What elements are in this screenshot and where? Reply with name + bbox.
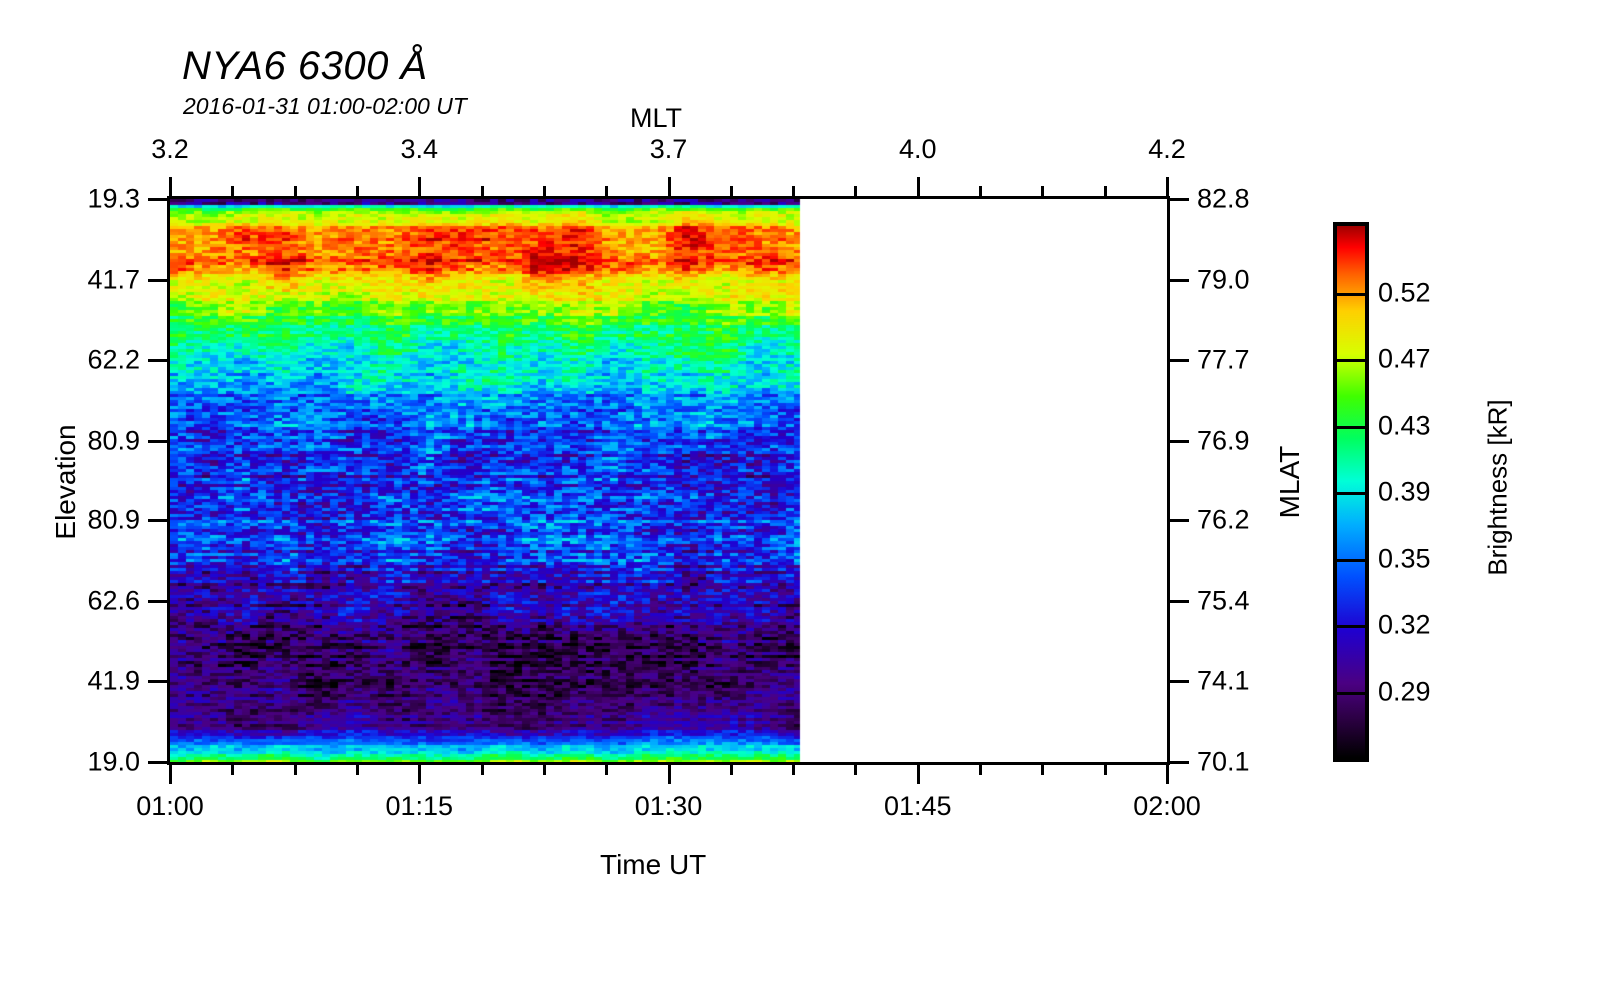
mlat-tick-label-0: 82.8 <box>1197 184 1250 215</box>
elevation-tick-label-1: 41.7 <box>87 264 140 295</box>
x-minor-tick-top <box>294 186 297 199</box>
colorbar-tick-label-0.39: 0.39 <box>1378 477 1431 508</box>
figure-subtitle: 2016-01-31 01:00-02:00 UT <box>183 93 467 120</box>
colorbar-tick-label-0.29: 0.29 <box>1378 677 1431 708</box>
x-minor-tick-bottom <box>543 762 546 775</box>
elevation-tick-label-2: 62.2 <box>87 345 140 376</box>
y-major-tick-left-2 <box>148 359 170 362</box>
y-major-tick-right-1 <box>1167 279 1189 282</box>
x-major-tick-top-3 <box>917 177 920 199</box>
colorbar-separator-5 <box>1337 625 1365 628</box>
y-major-tick-left-5 <box>148 600 170 603</box>
brightness-colorbar <box>1333 222 1369 762</box>
x-minor-tick-top <box>231 186 234 199</box>
y-major-tick-right-5 <box>1167 600 1189 603</box>
x-minor-tick-top <box>543 186 546 199</box>
x-minor-tick-bottom <box>1104 762 1107 775</box>
x-major-tick-bottom-3 <box>917 762 920 784</box>
mlt-tick-label-3.2: 3.2 <box>151 134 189 165</box>
elevation-tick-label-4: 80.9 <box>87 505 140 536</box>
x-minor-tick-bottom <box>231 762 234 775</box>
figure-root: NYA6 6300 Å 2016-01-31 01:00-02:00 UT ML… <box>0 0 1600 1000</box>
x-minor-tick-bottom <box>730 762 733 775</box>
y-major-tick-left-6 <box>148 680 170 683</box>
x-major-tick-top-0 <box>169 177 172 199</box>
mlt-tick-label-4.0: 4.0 <box>899 134 937 165</box>
x-minor-tick-top <box>792 186 795 199</box>
y-major-tick-left-4 <box>148 519 170 522</box>
keogram-image <box>170 199 1167 762</box>
mlt-axis-title: MLT <box>630 103 682 134</box>
x-minor-tick-top <box>1041 186 1044 199</box>
x-major-tick-top-2 <box>668 177 671 199</box>
mlat-axis-title: MLAT <box>1274 382 1306 582</box>
x-minor-tick-top <box>481 186 484 199</box>
x-major-tick-top-1 <box>418 177 421 199</box>
x-minor-tick-bottom <box>294 762 297 775</box>
mlat-tick-label-4: 76.2 <box>1197 505 1250 536</box>
y-major-tick-left-7 <box>148 761 170 764</box>
colorbar-tick-label-0.35: 0.35 <box>1378 544 1431 575</box>
x-tick-label-01:15: 01:15 <box>385 791 453 822</box>
colorbar-separator-1 <box>1337 359 1365 362</box>
elevation-tick-label-6: 41.9 <box>87 666 140 697</box>
mlat-tick-label-6: 74.1 <box>1197 666 1250 697</box>
colorbar-separator-4 <box>1337 559 1365 562</box>
x-minor-tick-top <box>356 186 359 199</box>
time-axis-title: Time UT <box>600 849 706 881</box>
colorbar-tick-label-0.43: 0.43 <box>1378 411 1431 442</box>
x-tick-label-01:00: 01:00 <box>136 791 204 822</box>
x-major-tick-bottom-4 <box>1166 762 1169 784</box>
x-major-tick-bottom-2 <box>668 762 671 784</box>
x-minor-tick-bottom <box>481 762 484 775</box>
colorbar-separator-0 <box>1337 293 1365 296</box>
y-major-tick-right-7 <box>1167 761 1189 764</box>
elevation-tick-label-3: 80.9 <box>87 425 140 456</box>
mlt-tick-label-3.7: 3.7 <box>650 134 688 165</box>
x-minor-tick-bottom <box>979 762 982 775</box>
colorbar-tick-label-0.52: 0.52 <box>1378 278 1431 309</box>
elevation-tick-label-7: 19.0 <box>87 747 140 778</box>
colorbar-separator-2 <box>1337 426 1365 429</box>
y-major-tick-right-0 <box>1167 198 1189 201</box>
y-major-tick-right-4 <box>1167 519 1189 522</box>
y-major-tick-left-1 <box>148 279 170 282</box>
x-major-tick-bottom-1 <box>418 762 421 784</box>
x-minor-tick-bottom <box>356 762 359 775</box>
x-minor-tick-top <box>854 186 857 199</box>
x-minor-tick-top <box>979 186 982 199</box>
mlat-tick-label-5: 75.4 <box>1197 585 1250 616</box>
elevation-tick-label-5: 62.6 <box>87 585 140 616</box>
x-major-tick-top-4 <box>1166 177 1169 199</box>
mlat-tick-label-1: 79.0 <box>1197 264 1250 295</box>
x-major-tick-bottom-0 <box>169 762 172 784</box>
colorbar-tick-label-0.32: 0.32 <box>1378 610 1431 641</box>
y-major-tick-left-0 <box>148 198 170 201</box>
colorbar-separator-3 <box>1337 492 1365 495</box>
y-major-tick-right-3 <box>1167 440 1189 443</box>
x-minor-tick-bottom <box>1041 762 1044 775</box>
y-major-tick-left-3 <box>148 440 170 443</box>
mlt-tick-label-4.2: 4.2 <box>1148 134 1186 165</box>
y-major-tick-right-2 <box>1167 359 1189 362</box>
x-tick-label-02:00: 02:00 <box>1133 791 1201 822</box>
keogram-plot-area <box>167 196 1170 765</box>
brightness-colorbar-title: Brightness [kR] <box>1483 358 1514 618</box>
mlat-tick-label-2: 77.7 <box>1197 345 1250 376</box>
x-minor-tick-bottom <box>854 762 857 775</box>
mlat-tick-label-3: 76.9 <box>1197 425 1250 456</box>
elevation-axis-title: Elevation <box>50 382 82 582</box>
x-tick-label-01:45: 01:45 <box>884 791 952 822</box>
mlat-tick-label-7: 70.1 <box>1197 747 1250 778</box>
elevation-tick-label-0: 19.3 <box>87 184 140 215</box>
x-tick-label-01:30: 01:30 <box>635 791 703 822</box>
x-minor-tick-bottom <box>792 762 795 775</box>
page-title: NYA6 6300 Å <box>182 44 428 89</box>
x-minor-tick-top <box>605 186 608 199</box>
colorbar-separator-6 <box>1337 692 1365 695</box>
x-minor-tick-top <box>1104 186 1107 199</box>
y-major-tick-right-6 <box>1167 680 1189 683</box>
mlt-tick-label-3.4: 3.4 <box>400 134 438 165</box>
colorbar-tick-label-0.47: 0.47 <box>1378 344 1431 375</box>
x-minor-tick-top <box>730 186 733 199</box>
x-minor-tick-bottom <box>605 762 608 775</box>
